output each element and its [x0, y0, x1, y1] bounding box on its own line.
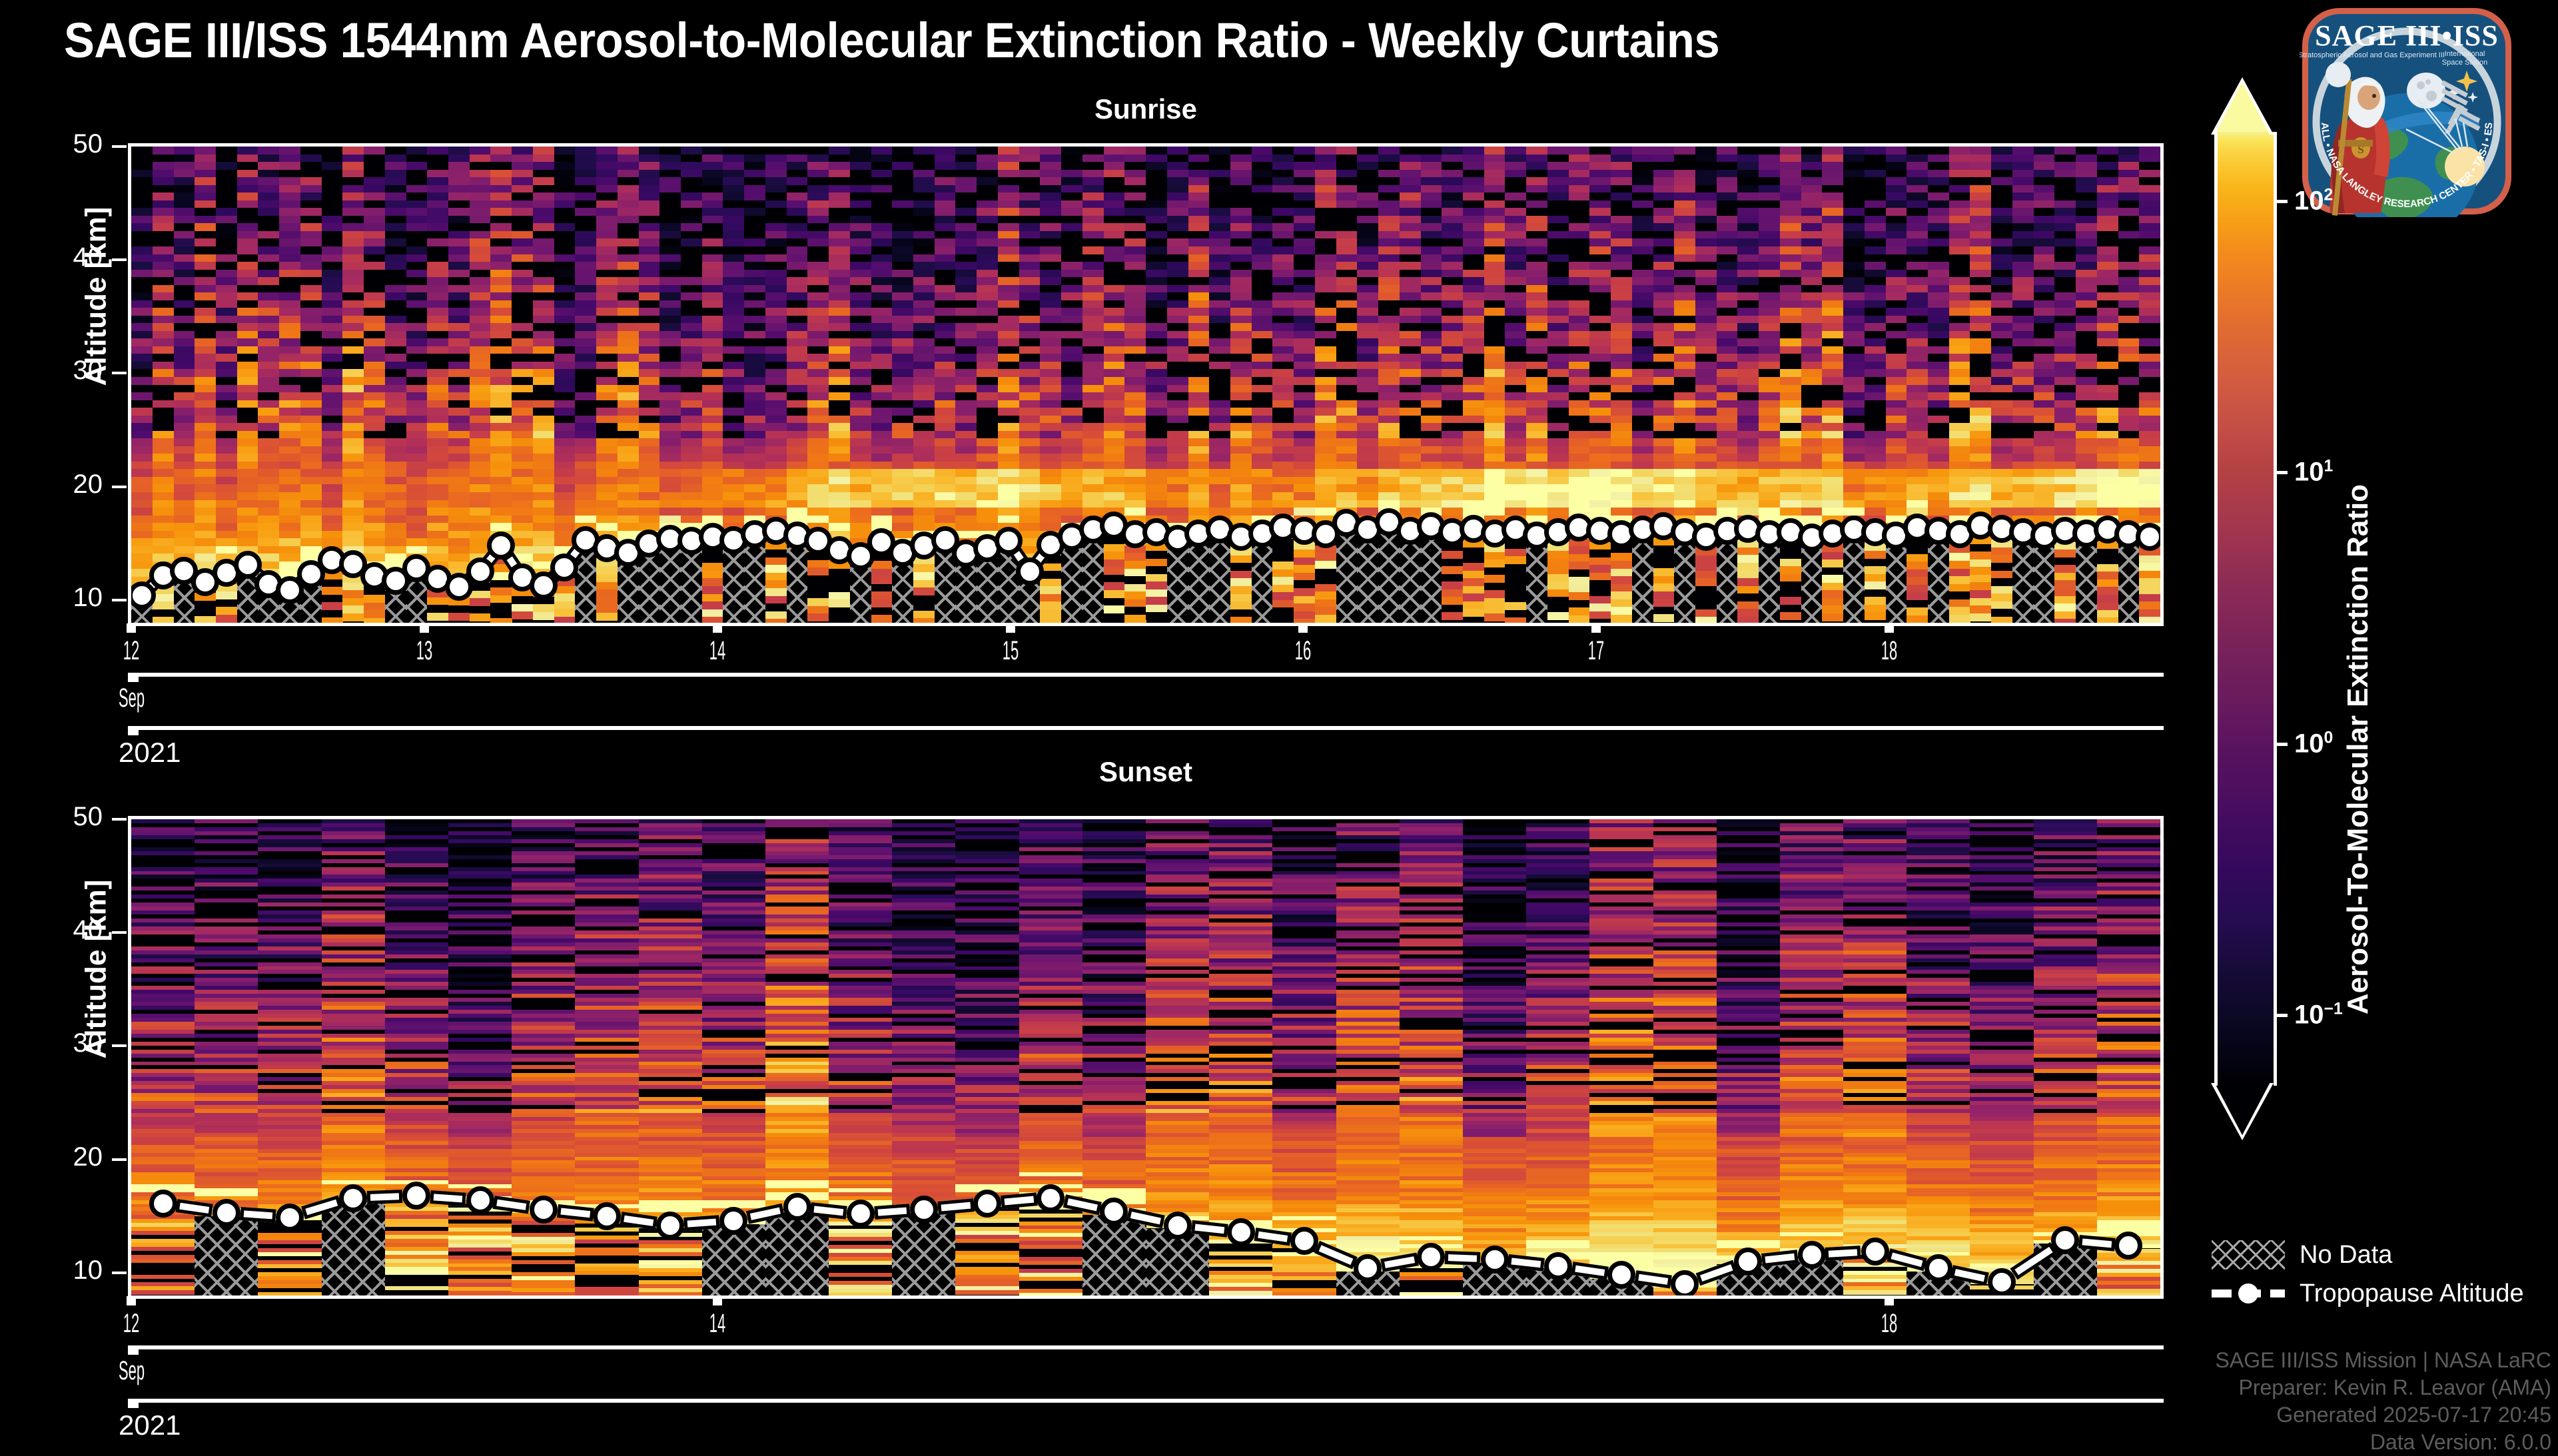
heatmap-cell [364, 484, 385, 492]
heatmap-cell [174, 270, 195, 278]
heatmap-cell [1442, 346, 1463, 354]
heatmap-cell [195, 392, 216, 400]
heatmap-cell [1737, 416, 1759, 424]
heatmap-cell [1505, 454, 1526, 462]
heatmap-cell [681, 277, 702, 285]
heatmap-cell [1695, 200, 1717, 208]
heatmap-cell [153, 369, 174, 377]
heatmap-cell [892, 492, 913, 500]
heatmap-cell [490, 446, 512, 454]
heatmap-cell [470, 177, 491, 185]
heatmap-cell [1357, 438, 1378, 446]
heatmap-cell [1653, 223, 1675, 231]
heatmap-cell [723, 246, 744, 254]
heatmap-cell [1357, 223, 1378, 231]
heatmap-cell [2054, 477, 2076, 485]
heatmap-cell [2097, 223, 2118, 231]
heatmap-cell [322, 162, 343, 170]
heatmap-cell [2012, 369, 2034, 377]
heatmap-cell [955, 285, 977, 293]
heatmap-cell [977, 231, 998, 239]
heatmap-cell [1695, 216, 1717, 224]
heatmap-cell [1484, 362, 1505, 370]
heatmap-cell [850, 277, 871, 285]
heatmap-cell [1061, 285, 1082, 293]
heatmap-cell [596, 155, 618, 163]
heatmap-cell [1124, 500, 1146, 508]
heatmap-cell [1653, 170, 1675, 178]
heatmap-cell [1843, 185, 1865, 193]
heatmap-cell [829, 362, 850, 370]
heatmap-cell [322, 431, 343, 439]
heatmap-cell [1104, 484, 1125, 492]
heatmap-cell [1632, 446, 1653, 454]
heatmap-cell [1209, 270, 1230, 278]
heatmap-cell [1061, 185, 1082, 193]
heatmap-cell [279, 231, 300, 239]
heatmap-cell [2097, 454, 2118, 462]
heatmap-cell [1484, 484, 1505, 492]
heatmap-cell [1442, 508, 1463, 516]
heatmap-cell [258, 316, 279, 324]
heatmap-cell [385, 523, 406, 531]
heatmap-cell [998, 377, 1019, 385]
heatmap-cell [1463, 477, 1484, 485]
heatmap-cell [1378, 308, 1400, 316]
heatmap-cell [1378, 385, 1400, 393]
heatmap-cell [2118, 354, 2140, 362]
heatmap-cell [153, 338, 174, 346]
heatmap-cell [364, 553, 385, 561]
heatmap-cell [1589, 238, 1611, 246]
heatmap-cell [955, 392, 977, 400]
heatmap-cell [1886, 316, 1907, 324]
heatmap-cell [1928, 431, 1949, 439]
heatmap-cell [1230, 385, 1252, 393]
heatmap-cell [1484, 438, 1505, 446]
heatmap-cell [1400, 408, 1421, 416]
heatmap-cell [237, 531, 258, 539]
heatmap-cell [1759, 238, 1780, 246]
heatmap-cell [1737, 469, 1759, 477]
heatmap-cell [955, 416, 977, 424]
heatmap-cell [1907, 300, 1928, 308]
heatmap-cell [1272, 338, 1294, 346]
heatmap-cell [1505, 500, 1526, 508]
heatmap-cell [448, 292, 470, 300]
heatmap-cell [1040, 300, 1061, 308]
heatmap-cell [681, 316, 702, 324]
heatmap-cell [427, 238, 448, 246]
heatmap-cell [1463, 216, 1484, 224]
heatmap-cell [1949, 508, 1970, 516]
heatmap-cell [1357, 316, 1378, 324]
heatmap-cell [554, 216, 576, 224]
heatmap-cell [1674, 147, 1695, 155]
heatmap-cell [787, 392, 808, 400]
heatmap-cell [807, 392, 829, 400]
heatmap-cell [1928, 377, 1949, 385]
heatmap-cell [448, 546, 470, 554]
heatmap-cell [1886, 438, 1907, 446]
heatmap-cell [153, 454, 174, 462]
heatmap-cell [1400, 446, 1421, 454]
heatmap-cell [1907, 277, 1928, 285]
heatmap-cell [1252, 185, 1273, 193]
heatmap-cell [1230, 155, 1252, 163]
heatmap-cell [533, 354, 554, 362]
heatmap-cell [1442, 431, 1463, 439]
heatmap-cell [2076, 338, 2097, 346]
heatmap-cell [1252, 477, 1273, 485]
heatmap-cell [1167, 377, 1188, 385]
heatmap-cell [131, 262, 153, 270]
heatmap-cell [955, 208, 977, 216]
heatmap-cell [913, 385, 935, 393]
heatmap-cell [195, 238, 216, 246]
heatmap-cell [195, 231, 216, 239]
heatmap-cell [1294, 185, 1315, 193]
heatmap-cell [935, 292, 956, 300]
heatmap-cell [1991, 300, 2012, 308]
heatmap-cell [639, 362, 660, 370]
heatmap-cell [1104, 292, 1125, 300]
heatmap-cell [1146, 285, 1167, 293]
heatmap-cell [1822, 192, 1843, 200]
heatmap-cell [174, 254, 195, 262]
heatmap-cell [1589, 385, 1611, 393]
heatmap-cell [258, 484, 279, 492]
heatmap-cell [174, 492, 195, 500]
heatmap-cell [2012, 316, 2034, 324]
heatmap-cell [1400, 477, 1421, 485]
heatmap-cell [427, 492, 448, 500]
heatmap-cell [787, 200, 808, 208]
heatmap-cell [1569, 185, 1590, 193]
heatmap-cell [1822, 200, 1843, 208]
heatmap-cell [1061, 155, 1082, 163]
heatmap-cell [322, 408, 343, 416]
heatmap-cell [1632, 192, 1653, 200]
heatmap-cell [1315, 484, 1336, 492]
heatmap-cell [955, 192, 977, 200]
heatmap-cell [512, 254, 533, 262]
heatmap-cell [1907, 338, 1928, 346]
heatmap-cell [913, 155, 935, 163]
heatmap-cell [1547, 338, 1569, 346]
heatmap-cell [1484, 338, 1505, 346]
heatmap-cell [596, 246, 618, 254]
heatmap-cell [1653, 454, 1675, 462]
heatmap-cell [1759, 369, 1780, 377]
heatmap-cell [1104, 155, 1125, 163]
heatmap-cell [554, 262, 576, 270]
heatmap-cell [364, 147, 385, 155]
heatmap-cell [1400, 292, 1421, 300]
heatmap-cell [2034, 454, 2055, 462]
heatmap-cell [131, 170, 153, 178]
heatmap-cell [787, 346, 808, 354]
heatmap-cell [871, 200, 893, 208]
heatmap-cell [1865, 408, 1886, 416]
heatmap-cell [279, 238, 300, 246]
heatmap-cell [1505, 192, 1526, 200]
heatmap-cell [1569, 270, 1590, 278]
heatmap-cell [2139, 238, 2160, 246]
heatmap-cell [1230, 192, 1252, 200]
heatmap-cell [1336, 408, 1358, 416]
heatmap-cell [131, 416, 153, 424]
heatmap-cell [765, 477, 787, 485]
heatmap-cell [1674, 162, 1695, 170]
heatmap-cell [554, 438, 576, 446]
heatmap-cell [490, 323, 512, 331]
heatmap-cell [490, 400, 512, 408]
heatmap-cell [342, 362, 364, 370]
heatmap-cell [322, 531, 343, 539]
heatmap-cell [216, 416, 237, 424]
heatmap-cell [1822, 177, 1843, 185]
heatmap-cell [2054, 300, 2076, 308]
heatmap-cell [1188, 338, 1210, 346]
heatmap-cell [216, 254, 237, 262]
heatmap-cell [1124, 354, 1146, 362]
heatmap-cell [364, 238, 385, 246]
heatmap-cell [1484, 177, 1505, 185]
heatmap-cell [1104, 392, 1125, 400]
heatmap-cell [659, 292, 681, 300]
heatmap-cell [787, 484, 808, 492]
heatmap-cell [554, 147, 576, 155]
heatmap-cell [639, 508, 660, 516]
heatmap-cell [955, 508, 977, 516]
heatmap-cell [1674, 316, 1695, 324]
heatmap-cell [237, 423, 258, 431]
heatmap-cell [829, 323, 850, 331]
heatmap-cell [1146, 223, 1167, 231]
heatmap-cell [1759, 431, 1780, 439]
heatmap-cell [1146, 346, 1167, 354]
heatmap-cell [1717, 308, 1738, 316]
heatmap-cell [850, 516, 871, 524]
heatmap-cell [131, 377, 153, 385]
heatmap-cell [892, 277, 913, 285]
heatmap-cell [1801, 170, 1823, 178]
heatmap-cell [554, 231, 576, 239]
heatmap-cell [322, 385, 343, 393]
heatmap-cell [1611, 423, 1632, 431]
heatmap-cell [1082, 469, 1104, 477]
heatmap-cell [470, 469, 491, 477]
heatmap-cell [153, 408, 174, 416]
heatmap-cell [1970, 208, 1991, 216]
heatmap-cell [2034, 292, 2055, 300]
heatmap-cell [2076, 285, 2097, 293]
heatmap-cell [1674, 262, 1695, 270]
heatmap-cell [342, 331, 364, 339]
heatmap-cell [237, 484, 258, 492]
heatmap-cell [702, 438, 723, 446]
heatmap-cell [406, 423, 428, 431]
heatmap-cell [427, 292, 448, 300]
heatmap-cell [955, 270, 977, 278]
heatmap-cell [2054, 285, 2076, 293]
heatmap-cell [1780, 508, 1801, 516]
heatmap-cell [385, 270, 406, 278]
heatmap-cell [913, 416, 935, 424]
heatmap-cell [1040, 377, 1061, 385]
heatmap-cell [1759, 400, 1780, 408]
heatmap-cell [871, 331, 893, 339]
heatmap-cell [1865, 262, 1886, 270]
heatmap-cell [2054, 362, 2076, 370]
heatmap-cell [406, 500, 428, 508]
heatmap-cell [533, 484, 554, 492]
heatmap-cell [1907, 385, 1928, 393]
heatmap-cell [1082, 438, 1104, 446]
heatmap-cell [1315, 377, 1336, 385]
heatmap-cell [1674, 270, 1695, 278]
heatmap-cell [787, 246, 808, 254]
heatmap-cell [216, 238, 237, 246]
heatmap-cell [1928, 469, 1949, 477]
heatmap-cell [406, 223, 428, 231]
heatmap-cell [681, 331, 702, 339]
heatmap-cell [195, 462, 216, 470]
heatmap-cell [2118, 400, 2140, 408]
heatmap-cell [1146, 508, 1167, 516]
heatmap-cell [807, 508, 829, 516]
heatmap-cell [618, 469, 639, 477]
heatmap-cell [618, 231, 639, 239]
heatmap-cell [1272, 170, 1294, 178]
heatmap-cell [998, 454, 1019, 462]
heatmap-cell [639, 462, 660, 470]
heatmap-cell [1547, 431, 1569, 439]
heatmap-cell [1822, 292, 1843, 300]
heatmap-cell [279, 277, 300, 285]
heatmap-cell [1442, 185, 1463, 193]
heatmap-cell [174, 208, 195, 216]
heatmap-cell [1104, 462, 1125, 470]
heatmap-cell [659, 155, 681, 163]
heatmap-cell [216, 492, 237, 500]
heatmap-cell [1780, 416, 1801, 424]
heatmap-cell [216, 385, 237, 393]
heatmap-cell [1970, 438, 1991, 446]
heatmap-cell [1357, 238, 1378, 246]
heatmap-cell [342, 400, 364, 408]
heatmap-cell [1400, 208, 1421, 216]
heatmap-cell [618, 177, 639, 185]
heatmap-cell [744, 500, 765, 508]
heatmap-cell [955, 177, 977, 185]
heatmap-cell [1611, 323, 1632, 331]
heatmap-cell [1822, 323, 1843, 331]
heatmap-cell [659, 147, 681, 155]
heatmap-cell [1082, 492, 1104, 500]
heatmap-cell [1865, 308, 1886, 316]
heatmap-cell [153, 316, 174, 324]
heatmap-cell [1484, 369, 1505, 377]
heatmap-cell [744, 270, 765, 278]
heatmap-cell [744, 346, 765, 354]
heatmap-cell [892, 516, 913, 524]
heatmap-cell [385, 200, 406, 208]
heatmap-cell [1632, 223, 1653, 231]
heatmap-cell [787, 277, 808, 285]
heatmap-cell [385, 292, 406, 300]
heatmap-cell [174, 338, 195, 346]
heatmap-cell [258, 323, 279, 331]
heatmap-cell [639, 300, 660, 308]
heatmap-cell [2139, 216, 2160, 224]
heatmap-cell [1822, 400, 1843, 408]
heatmap-cell [575, 238, 596, 246]
heatmap-cell [279, 446, 300, 454]
heatmap-cell [174, 531, 195, 539]
heatmap-cell [2034, 346, 2055, 354]
heatmap-cell [596, 438, 618, 446]
heatmap-cell [216, 170, 237, 178]
heatmap-cell [787, 285, 808, 293]
heatmap-cell [1886, 323, 1907, 331]
heatmap-cell [618, 423, 639, 431]
heatmap-cell [237, 323, 258, 331]
heatmap-cell [829, 354, 850, 362]
heatmap-cell [723, 200, 744, 208]
heatmap-cell [596, 277, 618, 285]
heatmap-cell [1357, 308, 1378, 316]
heatmap-cell [1209, 400, 1230, 408]
heatmap-cell [131, 546, 153, 554]
heatmap-cell [237, 477, 258, 485]
heatmap-cell [1949, 408, 1970, 416]
heatmap-cell [1843, 469, 1865, 477]
heatmap-cell [2118, 408, 2140, 416]
heatmap-cell [174, 354, 195, 362]
heatmap-cell [427, 346, 448, 354]
heatmap-cell [364, 292, 385, 300]
heatmap-cell [1695, 454, 1717, 462]
heatmap-cell [342, 155, 364, 163]
heatmap-cell [216, 285, 237, 293]
heatmap-cell [1991, 185, 2012, 193]
heatmap-cell [807, 454, 829, 462]
heatmap-cell [258, 308, 279, 316]
heatmap-cell [1505, 147, 1526, 155]
heatmap-cell [618, 438, 639, 446]
heatmap-cell [1146, 438, 1167, 446]
heatmap-cell [385, 546, 406, 554]
heatmap-cell [1315, 208, 1336, 216]
heatmap-cell [385, 431, 406, 439]
heatmap-cell [1294, 354, 1315, 362]
heatmap-cell [195, 553, 216, 561]
heatmap-cell [342, 162, 364, 170]
heatmap-cell [596, 385, 618, 393]
heatmap-cell [1970, 331, 1991, 339]
heatmap-cell [829, 400, 850, 408]
heatmap-cell [258, 331, 279, 339]
heatmap-cell [1928, 392, 1949, 400]
heatmap-cell [490, 338, 512, 346]
heatmap-cell [2139, 308, 2160, 316]
heatmap-cell [1230, 369, 1252, 377]
heatmap-cell [829, 377, 850, 385]
heatmap-cell [364, 377, 385, 385]
heatmap-cell [913, 423, 935, 431]
